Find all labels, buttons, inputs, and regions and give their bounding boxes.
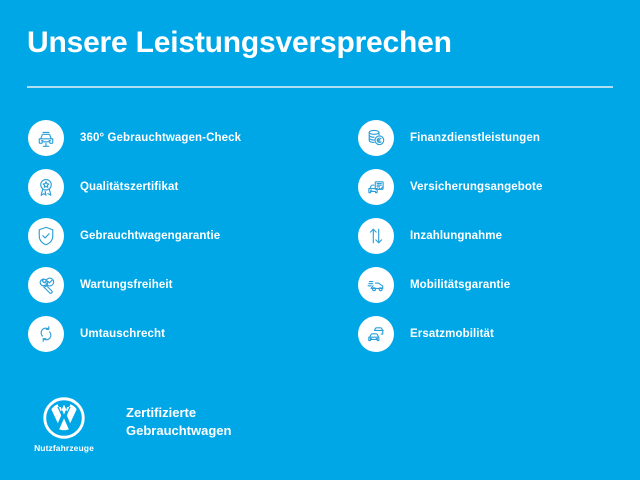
footer-headline-line1: Zertifizierte [126,404,231,422]
vw-roundel-icon [42,396,86,440]
list-item[interactable]: Wartungsfreiheit [28,267,328,303]
list-item-label: Umtauschrecht [80,328,165,340]
list-item[interactable]: Mobilitätsgarantie [358,267,628,303]
exchange-arrows-icon [28,316,64,352]
list-item[interactable]: Gebrauchtwagengarantie [28,218,328,254]
list-item-label: Wartungsfreiheit [80,279,173,291]
list-item-label: Qualitätszertifikat [80,181,178,193]
header-divider [27,86,613,88]
list-item-label: Ersatzmobilität [410,328,494,340]
car-document-check-icon [358,169,394,205]
list-item[interactable]: Ersatzmobilität [358,316,628,352]
footer: Nutzfahrzeuge Zertifizierte Gebrauchtwag… [28,396,231,453]
car-inspection-icon [28,120,64,156]
shield-check-icon [28,218,64,254]
coins-euro-icon [358,120,394,156]
list-item-label: Inzahlungnahme [410,230,502,242]
list-item-label: Mobilitätsgarantie [410,279,510,291]
two-cars-icon [358,316,394,352]
list-item[interactable]: Finanzdienstleistungen [358,120,628,156]
list-item[interactable]: Versicherungsangebote [358,169,628,205]
list-item-label: 360° Gebrauchtwagen-Check [80,132,241,144]
logo-subtitle: Nutzfahrzeuge [34,443,94,453]
list-item[interactable]: Inzahlungnahme [358,218,628,254]
benefits-column-left: 360° Gebrauchtwagen-Check Qualitätszerti… [28,120,328,365]
list-item-label: Gebrauchtwagengarantie [80,230,220,242]
award-rosette-icon [28,169,64,205]
slide-root: Unsere Leistungsversprechen 360° Gebrauc… [0,0,640,480]
list-item[interactable]: Umtauschrecht [28,316,328,352]
footer-headline-line2: Gebrauchtwagen [126,422,231,440]
header: Unsere Leistungsversprechen [27,26,613,59]
benefits-column-right: Finanzdienstleistungen Versicherungsange… [358,120,628,365]
wrench-check-icon [28,267,64,303]
volkswagen-logo: Nutzfahrzeuge [28,396,100,453]
list-item[interactable]: Qualitätszertifikat [28,169,328,205]
page-title: Unsere Leistungsversprechen [27,26,613,59]
list-item-label: Finanzdienstleistungen [410,132,540,144]
list-item-label: Versicherungsangebote [410,181,542,193]
list-item[interactable]: 360° Gebrauchtwagen-Check [28,120,328,156]
footer-headline: Zertifizierte Gebrauchtwagen [126,404,231,439]
up-down-arrows-icon [358,218,394,254]
tow-truck-icon [358,267,394,303]
